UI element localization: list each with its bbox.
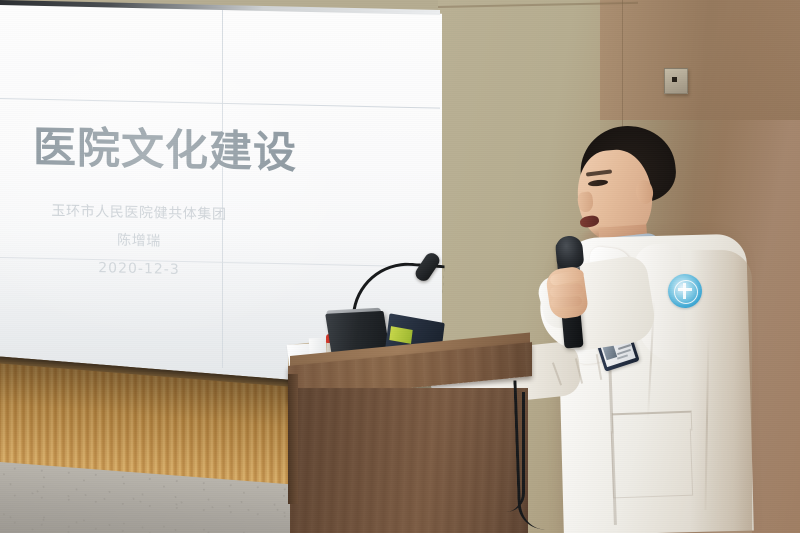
lab-coat-pocket [611,429,693,499]
handheld-microphone-head-icon [555,235,585,269]
podium-left-side [288,374,298,504]
wall-plate-port-icon [672,77,677,82]
podium-cable [506,392,525,512]
hospital-emblem-cross-icon [683,283,686,299]
podium-wood-grain [290,388,528,533]
hospital-emblem-ring-icon [674,280,698,304]
hospital-emblem-cross-icon [678,288,692,291]
lecture-photo: 医院文化建设 玉环市人民医院健共体集团 陈增瑞 2020-12-3 [0,0,800,533]
